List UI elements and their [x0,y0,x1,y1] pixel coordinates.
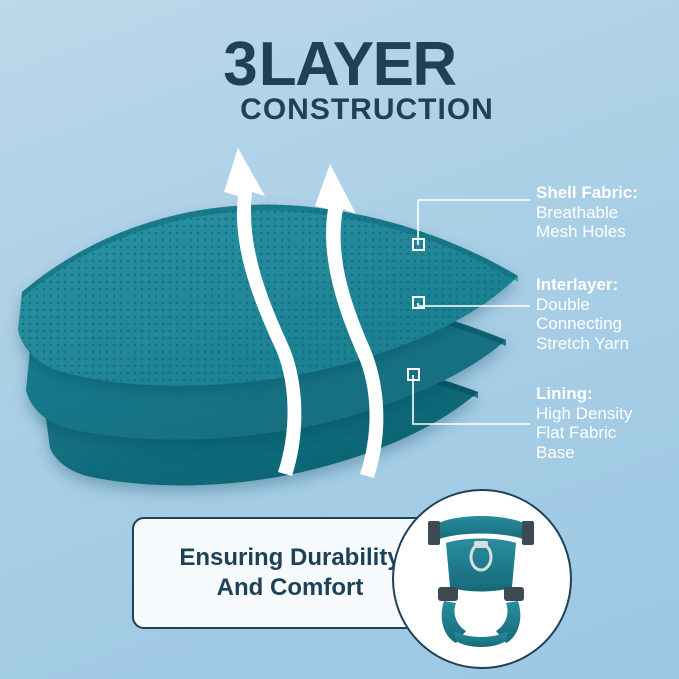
callout-shell-fabric: Shell Fabric: Breathable Mesh Holes [536,183,638,242]
callout-shell-line-2: Mesh Holes [536,222,638,242]
dog-harness-icon [394,491,570,667]
marker-lining [407,368,420,381]
marker-shell-fabric [412,238,425,251]
infographic-page: 3 LAYER CONSTRUCTION [0,0,679,679]
callout-shell-heading: Shell Fabric: [536,183,638,203]
tagline-line-2: And Comfort [179,573,400,603]
callout-lining-heading: Lining: [536,384,632,404]
marker-interlayer [412,296,425,309]
callout-interlayer-line-3: Stretch Yarn [536,334,629,354]
callout-interlayer-line-2: Connecting [536,314,629,334]
callout-lining: Lining: High Density Flat Fabric Base [536,384,632,463]
callout-lining-line-3: Base [536,443,632,463]
callout-interlayer-heading: Interlayer: [536,275,629,295]
callout-interlayer: Interlayer: Double Connecting Stretch Ya… [536,275,629,354]
callout-shell-line-1: Breathable [536,203,638,223]
callout-interlayer-line-1: Double [536,295,629,315]
tagline-text: Ensuring Durability And Comfort [171,543,426,603]
callout-lining-line-2: Flat Fabric [536,423,632,443]
callout-lining-line-1: High Density [536,404,632,424]
tagline-line-1: Ensuring Durability [179,543,400,573]
product-image-circle [392,489,572,669]
